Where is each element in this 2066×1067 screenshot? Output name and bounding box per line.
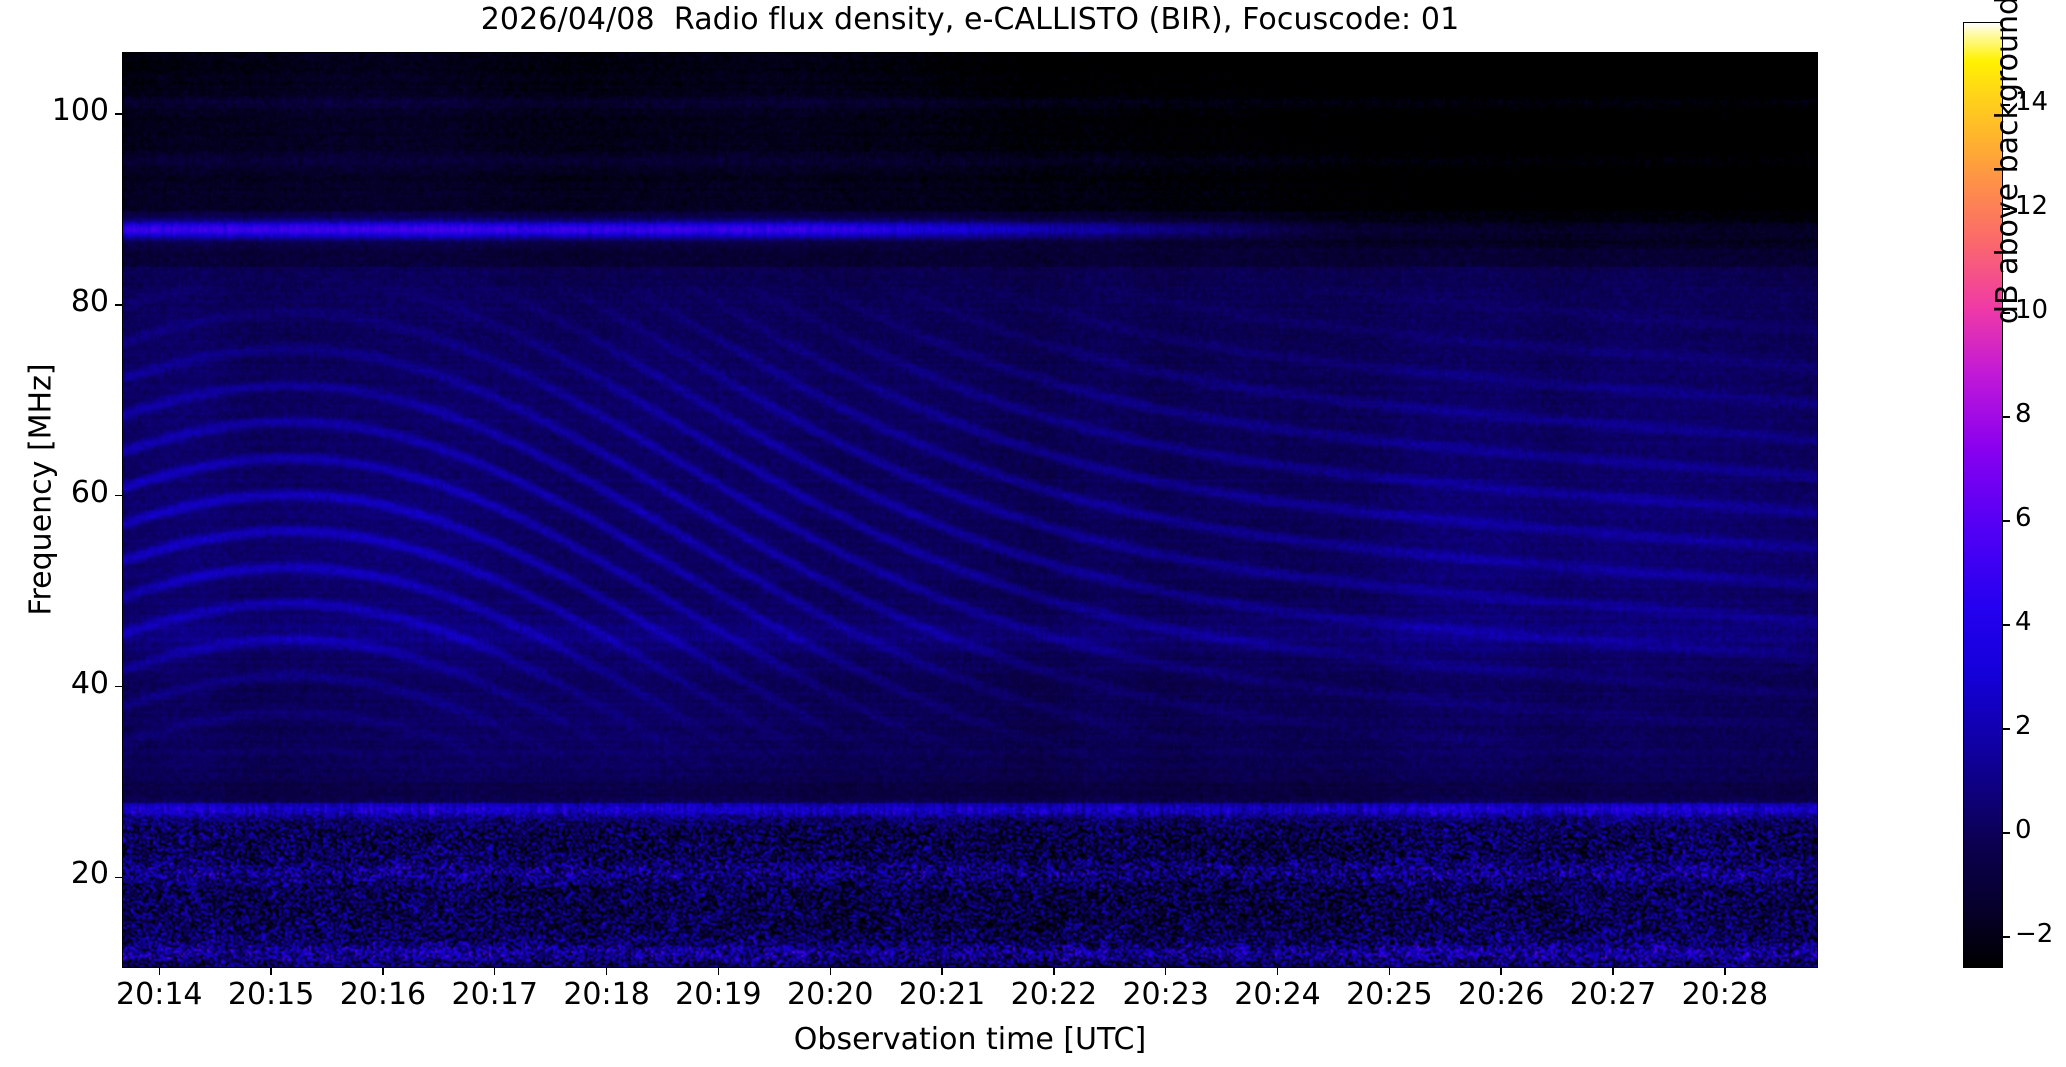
- x-axis-tick-label: 20:28: [1682, 977, 1768, 1012]
- x-axis-tick-label: 20:26: [1458, 977, 1544, 1012]
- spectrogram-figure: 2026/04/08 Radio flux density, e-CALLIST…: [0, 0, 2066, 1067]
- spectrogram-plot-area: [122, 52, 1818, 968]
- y-axis-tick-label: 80: [71, 284, 109, 319]
- x-axis-tick-mark: [606, 968, 607, 975]
- y-axis-tick-mark: [115, 686, 122, 687]
- spectrogram-image: [123, 53, 1818, 968]
- x-axis-tick-label: 20:20: [787, 977, 873, 1012]
- y-axis-label: Frequency [MHz]: [24, 310, 59, 670]
- x-axis-tick-mark: [382, 968, 383, 975]
- x-axis-tick-mark: [1724, 968, 1725, 975]
- colorbar-tick-mark: [2003, 832, 2010, 833]
- x-axis-tick-label: 20:17: [452, 977, 538, 1012]
- x-axis-tick-label: 20:23: [1122, 977, 1208, 1012]
- colorbar-tick-label: −2: [2015, 919, 2053, 949]
- y-axis-tick-label: 20: [71, 856, 109, 891]
- colorbar-tick-label: 6: [2015, 503, 2032, 533]
- x-axis-tick-label: 20:15: [228, 977, 314, 1012]
- x-axis-tick-mark: [1389, 968, 1390, 975]
- colorbar-tick-mark: [2003, 624, 2010, 625]
- x-axis-tick-mark: [159, 968, 160, 975]
- x-axis-tick-mark: [1053, 968, 1054, 975]
- y-axis-tick-mark: [115, 304, 122, 305]
- colorbar-tick-label: 4: [2015, 607, 2032, 637]
- x-axis-tick-label: 20:27: [1570, 977, 1656, 1012]
- x-axis-tick-label: 20:22: [1011, 977, 1097, 1012]
- x-axis-tick-label: 20:24: [1234, 977, 1320, 1012]
- y-axis-tick-mark: [115, 113, 122, 114]
- x-axis-tick-mark: [1165, 968, 1166, 975]
- x-axis-label: Observation time [UTC]: [122, 1022, 1818, 1057]
- x-axis-tick-label: 20:16: [340, 977, 426, 1012]
- y-axis-tick-mark: [115, 877, 122, 878]
- x-axis-tick-mark: [1500, 968, 1501, 975]
- colorbar-label: dB above background: [1990, 0, 2025, 470]
- colorbar-tick-mark: [2003, 936, 2010, 937]
- x-axis-tick-mark: [941, 968, 942, 975]
- y-axis-tick-label: 60: [71, 475, 109, 510]
- x-axis-tick-mark: [1612, 968, 1613, 975]
- colorbar-tick-mark: [2003, 728, 2010, 729]
- x-axis-tick-label: 20:18: [563, 977, 649, 1012]
- y-axis-tick-label: 40: [71, 666, 109, 701]
- x-axis-tick-mark: [494, 968, 495, 975]
- x-axis-tick-mark: [830, 968, 831, 975]
- x-axis-tick-label: 20:19: [675, 977, 761, 1012]
- page-title: 2026/04/08 Radio flux density, e-CALLIST…: [122, 2, 1818, 37]
- x-axis-tick-label: 20:21: [899, 977, 985, 1012]
- y-axis-tick-mark: [115, 495, 122, 496]
- x-axis-tick-label: 20:25: [1346, 977, 1432, 1012]
- x-axis-tick-mark: [270, 968, 271, 975]
- colorbar-tick-label: 2: [2015, 711, 2032, 741]
- colorbar-tick-label: 0: [2015, 815, 2032, 845]
- colorbar-tick-mark: [2003, 520, 2010, 521]
- x-axis-tick-mark: [1277, 968, 1278, 975]
- x-axis-tick-mark: [718, 968, 719, 975]
- y-axis-tick-label: 100: [52, 93, 109, 128]
- x-axis-tick-label: 20:14: [116, 977, 202, 1012]
